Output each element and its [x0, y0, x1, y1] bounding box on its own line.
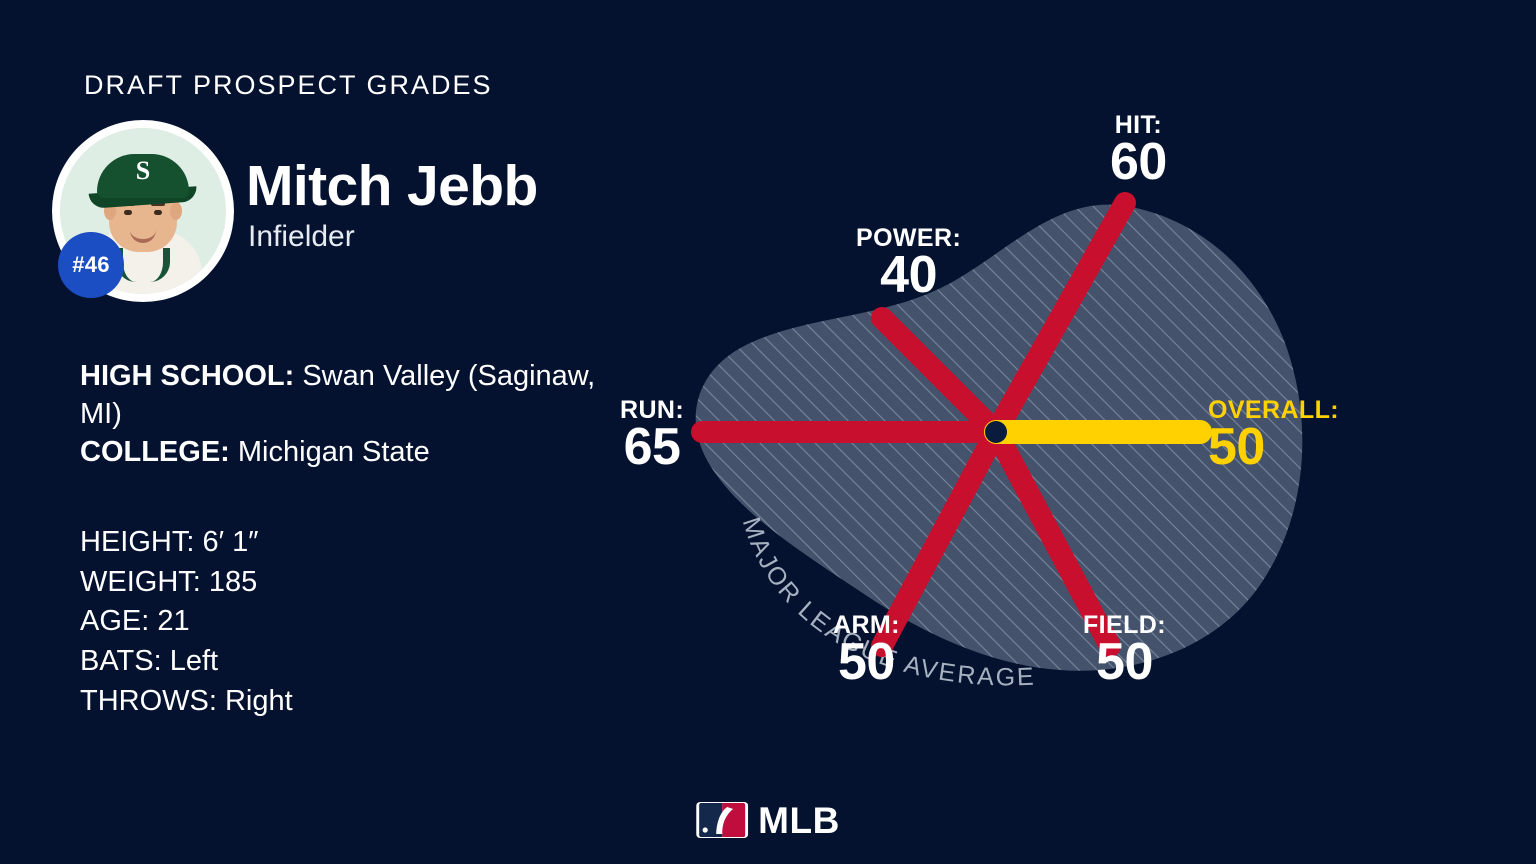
- scouting-grades-radar-chart: MAJOR LEAGUE AVERAGE HIT: 60 OVERALL: 50: [590, 90, 1380, 730]
- mlb-logo: MLB: [696, 800, 840, 840]
- bio-height: HEIGHT: 6′ 1″: [80, 523, 600, 563]
- mlb-wordmark: MLB: [758, 802, 840, 839]
- grade-hit: HIT: 60: [1110, 113, 1167, 188]
- bio-high-school-label: HIGH SCHOOL:: [80, 360, 294, 392]
- cap-logo-letter: S: [60, 158, 226, 184]
- page-title: DRAFT PROSPECT GRADES: [84, 70, 493, 101]
- bio-school-block: HIGH SCHOOL: Swan Valley (Saginaw, MI) C…: [80, 358, 600, 472]
- grade-overall: OVERALL: 50: [1208, 398, 1339, 473]
- player-name: Mitch Jebb: [246, 158, 538, 215]
- prospect-grades-graphic: DRAFT PROSPECT GRADES S #46 Mitch Jebb I…: [0, 0, 1536, 864]
- avatar: S #46: [52, 120, 242, 310]
- bio-weight: WEIGHT: 185: [80, 563, 600, 603]
- player-position: Infielder: [248, 222, 355, 252]
- bio-college: COLLEGE: Michigan State: [80, 434, 600, 472]
- grade-field: FIELD: 50: [1083, 613, 1166, 688]
- mlb-batter-icon: [696, 800, 748, 840]
- bio-high-school: HIGH SCHOOL: Swan Valley (Saginaw, MI): [80, 358, 600, 434]
- grade-run: RUN: 65: [620, 398, 684, 473]
- bio-college-label: COLLEGE:: [80, 436, 230, 468]
- chart-center-hub: [985, 421, 1007, 443]
- grade-arm: ARM: 50: [833, 613, 900, 688]
- bio-measurements-block: HEIGHT: 6′ 1″ WEIGHT: 185 AGE: 21 BATS: …: [80, 523, 600, 722]
- bio-bats: BATS: Left: [80, 642, 600, 682]
- grade-power: POWER: 40: [856, 226, 961, 301]
- bio-throws: THROWS: Right: [80, 682, 600, 722]
- rank-badge: #46: [58, 232, 124, 298]
- bio-age: AGE: 21: [80, 602, 600, 642]
- bio-college-value: Michigan State: [230, 436, 430, 468]
